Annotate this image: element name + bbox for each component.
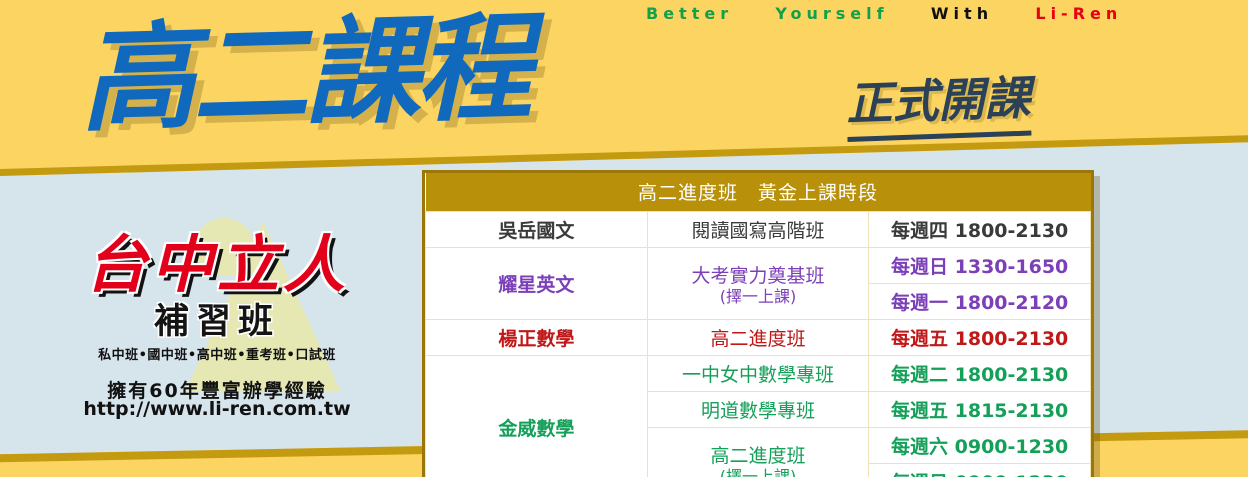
tagline-word-with: With: [931, 4, 993, 23]
logo-type: 補習班: [42, 304, 392, 339]
page-subtitle: 正式開課: [845, 62, 1031, 142]
logo-website-url[interactable]: http://www.li-ren.com.tw: [42, 398, 392, 420]
time-cell: 每週日 1330-1650: [869, 248, 1091, 284]
schedule-table-container: 高二進度班 黃金上課時段 吳岳國文閱讀國寫高階班每週四 1800-2130耀星英…: [422, 170, 1094, 477]
table-row: 楊正數學高二進度班每週五 1800-2130: [426, 320, 1091, 356]
course-name: 一中女中數學專班: [682, 364, 834, 386]
tagline: Better Yourself With Li-Ren: [646, 2, 1246, 26]
schedule-table-body: 吳岳國文閱讀國寫高階班每週四 1800-2130耀星英文大考實力奠基班(擇一上課…: [426, 212, 1091, 477]
time-cell: 每週五 1815-2130: [869, 392, 1091, 428]
time-cell: 每週五 1800-2130: [869, 320, 1091, 356]
table-row: 耀星英文大考實力奠基班(擇一上課)每週日 1330-1650: [426, 248, 1091, 284]
logo-class-list: 私中班•國中班•高中班•重考班•口試班: [42, 344, 392, 363]
teacher-cell: 吳岳國文: [426, 212, 648, 248]
schedule-table: 高二進度班 黃金上課時段 吳岳國文閱讀國寫高階班每週四 1800-2130耀星英…: [425, 173, 1091, 477]
course-name: 明道數學專班: [701, 400, 815, 422]
course-cell: 高二進度班: [647, 320, 869, 356]
time-cell: 每週日 0900-1230: [869, 464, 1091, 477]
course-cell: 高二進度班(擇一上課): [647, 428, 869, 477]
page-title: 高二課程: [78, 0, 530, 149]
course-note: (擇一上課): [648, 468, 869, 477]
time-cell: 每週四 1800-2130: [869, 212, 1091, 248]
course-cell: 大考實力奠基班(擇一上課): [647, 248, 869, 320]
course-name: 大考實力奠基班: [691, 265, 824, 287]
tagline-word-better: Better: [646, 4, 733, 23]
time-cell: 每週一 1800-2120: [869, 284, 1091, 320]
teacher-cell: 楊正數學: [426, 320, 648, 356]
time-cell: 每週六 0900-1230: [869, 428, 1091, 464]
course-name: 閱讀國寫高階班: [691, 220, 824, 242]
course-note: (擇一上課): [648, 288, 869, 306]
banner-stage: Better Yourself With Li-Ren 高二課程 正式開課 台中…: [0, 0, 1248, 477]
table-row: 吳岳國文閱讀國寫高階班每週四 1800-2130: [426, 212, 1091, 248]
course-cell: 明道數學專班: [647, 392, 869, 428]
table-row: 金威數學一中女中數學專班每週二 1800-2130: [426, 356, 1091, 392]
tagline-word-liren: Li-Ren: [1035, 4, 1122, 23]
teacher-cell: 耀星英文: [426, 248, 648, 320]
schedule-table-header: 高二進度班 黃金上課時段: [426, 173, 1091, 212]
time-cell: 每週二 1800-2130: [869, 356, 1091, 392]
course-cell: 閱讀國寫高階班: [647, 212, 869, 248]
tagline-word-yourself: Yourself: [775, 4, 888, 23]
course-name: 高二進度班: [710, 445, 805, 467]
teacher-cell: 金威數學: [426, 356, 648, 477]
logo-name: 台中立人: [42, 234, 392, 296]
course-name: 高二進度班: [710, 328, 805, 350]
course-cell: 一中女中數學專班: [647, 356, 869, 392]
